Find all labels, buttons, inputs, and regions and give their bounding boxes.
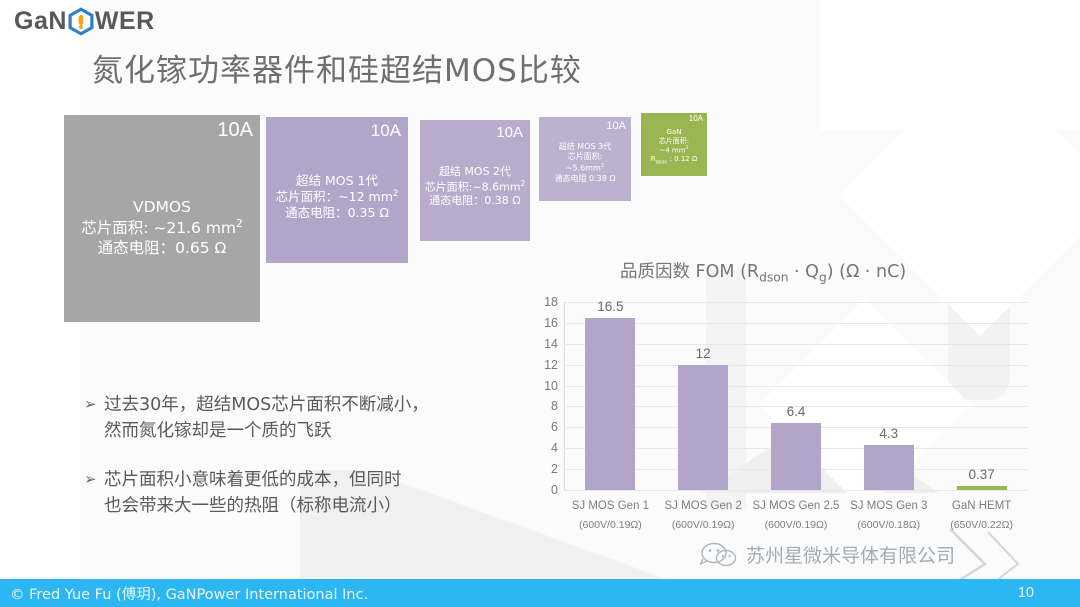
bar[interactable] xyxy=(771,423,821,490)
chip-box-gan-body: GaN 芯片面积: ~4 mm2 Rdson : 0.12 Ω xyxy=(647,128,702,166)
chip-box-gan-rds: Rdson : 0.12 Ω xyxy=(651,155,698,166)
hexagon-logo-icon xyxy=(68,7,94,36)
page-number: 10 xyxy=(1018,585,1034,601)
chart-title: 品质因数 FOM (Rdson · Qg) (Ω · nC) xyxy=(620,258,906,285)
chip-box-sj-mos-gen2-amps: 10A xyxy=(496,123,523,142)
chip-box-sj-mos-gen1-amps: 10A xyxy=(371,120,401,142)
chip-box-sj-mos-gen1-area-sup: 2 xyxy=(393,189,398,199)
bar-slot[interactable]: 12 xyxy=(657,302,750,490)
gridline: 0 xyxy=(564,490,1028,491)
bullet-line-2: 然而氮化镓却是一个质的飞跃 xyxy=(104,421,332,441)
chart-title-sub-g: g xyxy=(819,271,827,285)
chip-box-sj-mos-gen1-name: 超结 MOS 1代 xyxy=(276,173,399,189)
bar[interactable] xyxy=(957,486,1007,490)
x-axis-label-spec: (600V/0.19Ω) xyxy=(564,516,657,534)
y-axis-tick: 10 xyxy=(544,379,558,393)
chip-box-sj-mos-gen1-area-text: 芯片面积：~12 mm xyxy=(276,189,393,204)
bullet-line-1: 芯片面积小意味着更低的成本，但同时 xyxy=(104,470,402,490)
bar-value-label: 12 xyxy=(696,346,711,361)
x-axis-label-spec: (600V/0.19Ω) xyxy=(657,516,750,534)
x-axis-label-name: SJ MOS Gen 3 xyxy=(850,500,927,512)
logo-text-left: GaN xyxy=(14,7,67,36)
bullet-arrow-icon: ➢ xyxy=(84,392,104,417)
x-axis-label: SJ MOS Gen 3(600V/0.18Ω) xyxy=(842,496,935,535)
bar-slot[interactable]: 6.4 xyxy=(750,302,843,490)
y-axis-tick: 14 xyxy=(544,337,558,351)
chip-box-vdmos-name: VDMOS xyxy=(81,198,242,218)
chip-box-sj-mos-gen3-amps: 10A xyxy=(606,119,626,133)
chart-title-sub-dson: dson xyxy=(759,271,788,285)
bullet-line-1: 过去30年，超结MOS芯片面积不断减小， xyxy=(104,395,429,415)
bullet-arrow-icon: ➢ xyxy=(84,467,104,492)
chip-box-sj-mos-gen3-rds: 通态电阻 0.38 Ω xyxy=(554,174,615,184)
logo-text-right: WER xyxy=(95,7,155,36)
y-axis-tick: 0 xyxy=(551,483,558,497)
list-item: ➢ 芯片面积小意味着更低的成本，但同时 也会带来大一些的热阻（标称电流小） xyxy=(84,467,514,520)
bar[interactable] xyxy=(864,445,914,490)
y-axis-tick: 18 xyxy=(544,295,558,309)
y-axis-tick: 4 xyxy=(551,441,558,455)
chip-box-vdmos-area-text: 芯片面积: ~21.6 mm xyxy=(81,219,236,237)
chart-title-suffix: ) (Ω · nC) xyxy=(827,262,906,282)
chip-box-gan-amps: 10A xyxy=(689,114,703,124)
x-axis-label-name: SJ MOS Gen 2 xyxy=(665,500,742,512)
footer-bar: © Fred Yue Fu (傅玥), GaNPower Internation… xyxy=(0,579,1080,607)
slide: GaN WER 氮化镓功率器件和硅超结MOS比较 10A VDMOS 芯片面积:… xyxy=(0,0,1080,607)
chip-box-gan: 10A GaN 芯片面积: ~4 mm2 Rdson : 0.12 Ω xyxy=(641,113,707,176)
chip-box-sj-mos-gen2-body: 超结 MOS 2代 芯片面积:~8.6mm2 通态电阻：0.38 Ω xyxy=(421,165,530,209)
chip-box-gan-rds-rest: : 0.12 Ω xyxy=(667,155,697,163)
chip-box-gan-area2-text: ~4 mm xyxy=(659,146,685,154)
chip-box-vdmos-rds: 通态电阻：0.65 Ω xyxy=(81,239,242,259)
chip-box-gan-name: GaN xyxy=(651,128,698,137)
x-axis-label: SJ MOS Gen 1(600V/0.19Ω) xyxy=(564,496,657,535)
chip-box-sj-mos-gen2-area-text: 芯片面积:~8.6mm xyxy=(425,180,521,193)
y-axis-tick: 16 xyxy=(544,316,558,330)
chip-box-sj-mos-gen2-area-sup: 2 xyxy=(521,179,526,188)
fom-bar-chart: 品质因数 FOM (Rdson · Qg) (Ω · nC) 181614121… xyxy=(524,258,1044,548)
chip-box-vdmos-amps: 10A xyxy=(217,118,253,144)
bar-value-label: 4.3 xyxy=(879,426,898,441)
page-title: 氮化镓功率器件和硅超结MOS比较 xyxy=(92,45,582,90)
x-axis-label-spec: (600V/0.18Ω) xyxy=(842,516,935,534)
bar-value-label: 0.37 xyxy=(968,467,994,482)
chip-box-sj-mos-gen3: 10A 超结 MOS 3代 芯片面积: ~5.6mm2 通态电阻 0.38 Ω xyxy=(539,117,631,201)
bg-white-sweep xyxy=(820,0,1080,130)
ganpower-logo: GaN WER xyxy=(14,6,155,36)
x-axis-label: SJ MOS Gen 2(600V/0.19Ω) xyxy=(657,496,750,535)
chip-box-sj-mos-gen3-name: 超结 MOS 3代 xyxy=(554,142,615,152)
y-axis-tick: 8 xyxy=(551,399,558,413)
bullet-line-2: 也会带来大一些的热阻（标称电流小） xyxy=(104,496,402,516)
footer-copyright: © Fred Yue Fu (傅玥), GaNPower Internation… xyxy=(10,583,368,604)
chart-title-prefix: 品质因数 FOM (R xyxy=(620,262,759,282)
chip-box-vdmos-area: 芯片面积: ~21.6 mm2 xyxy=(81,218,242,239)
chip-box-gan-area: 芯片面积: xyxy=(651,137,698,146)
bar-slot[interactable]: 4.3 xyxy=(842,302,935,490)
bar-slot[interactable]: 0.37 xyxy=(935,302,1028,490)
bullet-text: 芯片面积小意味着更低的成本，但同时 也会带来大一些的热阻（标称电流小） xyxy=(104,467,514,520)
chip-box-sj-mos-gen3-body: 超结 MOS 3代 芯片面积: ~5.6mm2 通态电阻 0.38 Ω xyxy=(550,142,619,184)
y-axis-tick: 12 xyxy=(544,358,558,372)
x-axis-label-name: SJ MOS Gen 1 xyxy=(572,500,649,512)
chip-box-sj-mos-gen1: 10A 超结 MOS 1代 芯片面积：~12 mm2 通态电阻：0.35 Ω xyxy=(266,117,408,263)
x-axis-label-name: GaN HEMT xyxy=(952,500,1011,512)
chip-box-sj-mos-gen3-area: 芯片面积: xyxy=(554,152,615,162)
chip-box-vdmos: 10A VDMOS 芯片面积: ~21.6 mm2 通态电阻：0.65 Ω xyxy=(64,115,260,322)
chart-title-mid: · Q xyxy=(788,262,818,282)
x-axis-label: SJ MOS Gen 2.5(600V/0.19Ω) xyxy=(750,496,843,535)
bar[interactable] xyxy=(585,318,635,490)
chip-box-gan-area-sup: 2 xyxy=(686,146,689,151)
chip-box-sj-mos-gen2-name: 超结 MOS 2代 xyxy=(425,165,526,179)
chip-box-sj-mos-gen3-area2-text: ~5.6mm xyxy=(566,163,601,172)
y-axis-tick: 6 xyxy=(551,420,558,434)
chip-box-sj-mos-gen1-body: 超结 MOS 1代 芯片面积：~12 mm2 通态电阻：0.35 Ω xyxy=(272,173,403,221)
chip-box-gan-rds-sub: dson xyxy=(656,160,668,166)
bar-slot[interactable]: 16.5 xyxy=(564,302,657,490)
chart-plot-area: 181614121086420 16.5126.44.30.37 xyxy=(564,302,1028,490)
chip-box-sj-mos-gen3-area-sup: 2 xyxy=(601,163,604,169)
bar[interactable] xyxy=(678,365,728,490)
x-axis-label-name: SJ MOS Gen 2.5 xyxy=(753,500,840,512)
chip-box-sj-mos-gen2-rds: 通态电阻：0.38 Ω xyxy=(425,194,526,208)
chip-box-sj-mos-gen2: 10A 超结 MOS 2代 芯片面积:~8.6mm2 通态电阻：0.38 Ω xyxy=(420,120,530,241)
bar-value-label: 6.4 xyxy=(787,404,806,419)
bullet-list: ➢ 过去30年，超结MOS芯片面积不断减小， 然而氮化镓却是一个质的飞跃 ➢ 芯… xyxy=(84,392,514,541)
chip-box-gan-area2: ~4 mm2 xyxy=(651,146,698,155)
bar-value-label: 16.5 xyxy=(597,299,623,314)
chip-box-vdmos-body: VDMOS 芯片面积: ~21.6 mm2 通态电阻：0.65 Ω xyxy=(77,198,246,259)
chip-box-sj-mos-gen3-area2: ~5.6mm2 xyxy=(554,163,615,174)
chart-bars: 16.5126.44.30.37 xyxy=(564,302,1028,490)
y-axis-tick: 2 xyxy=(551,462,558,476)
chip-box-sj-mos-gen1-area: 芯片面积：~12 mm2 xyxy=(276,189,399,205)
x-axis-label-spec: (600V/0.19Ω) xyxy=(750,516,843,534)
chip-box-sj-mos-gen2-area: 芯片面积:~8.6mm2 xyxy=(425,179,526,195)
list-item: ➢ 过去30年，超结MOS芯片面积不断减小， 然而氮化镓却是一个质的飞跃 xyxy=(84,392,514,445)
chip-box-sj-mos-gen1-rds: 通态电阻：0.35 Ω xyxy=(276,205,399,221)
bullet-text: 过去30年，超结MOS芯片面积不断减小， 然而氮化镓却是一个质的飞跃 xyxy=(104,392,514,445)
chip-box-vdmos-area-sup: 2 xyxy=(236,218,243,230)
